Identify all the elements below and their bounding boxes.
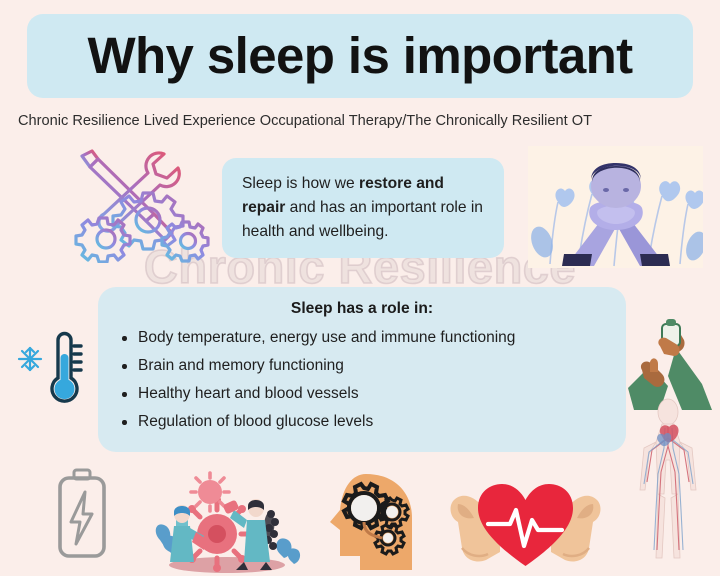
circulatory-system-illustration <box>628 398 708 568</box>
list-item: Regulation of blood glucose levels <box>112 408 612 436</box>
thermometer-snowflake-icon <box>12 326 84 410</box>
battery-energy-icon <box>54 468 110 560</box>
restore-repair-text: Sleep is how we restore and repair and h… <box>242 172 486 244</box>
head-gears-icon <box>326 470 422 570</box>
restore-repair-card: Sleep is how we restore and repair and h… <box>222 158 504 258</box>
hands-holding-device-illustration <box>624 318 712 410</box>
sleep-roles-card: Sleep has a role in: Body temperature, e… <box>98 287 626 452</box>
page-title: Why sleep is important <box>87 29 632 83</box>
heart-muscle-icon <box>448 470 603 570</box>
title-banner: Why sleep is important <box>27 14 693 98</box>
list-item: Body temperature, energy use and immune … <box>112 324 612 352</box>
restore-text-part1: Sleep is how we <box>242 175 359 192</box>
list-item: Healthy heart and blood vessels <box>112 380 612 408</box>
sleep-roles-list: Body temperature, energy use and immune … <box>112 324 612 436</box>
list-item: Brain and memory functioning <box>112 352 612 380</box>
immune-virus-illustration <box>152 470 302 574</box>
infographic-poster: Chronic Resilience Lived Experience Occu… <box>0 0 720 576</box>
page-subtitle: Chronic Resilience Lived Experience Occu… <box>18 112 708 130</box>
person-hugging-knees-illustration <box>528 146 703 268</box>
tools-gears-illustration <box>68 148 218 263</box>
sleep-roles-heading: Sleep has a role in: <box>112 297 612 321</box>
